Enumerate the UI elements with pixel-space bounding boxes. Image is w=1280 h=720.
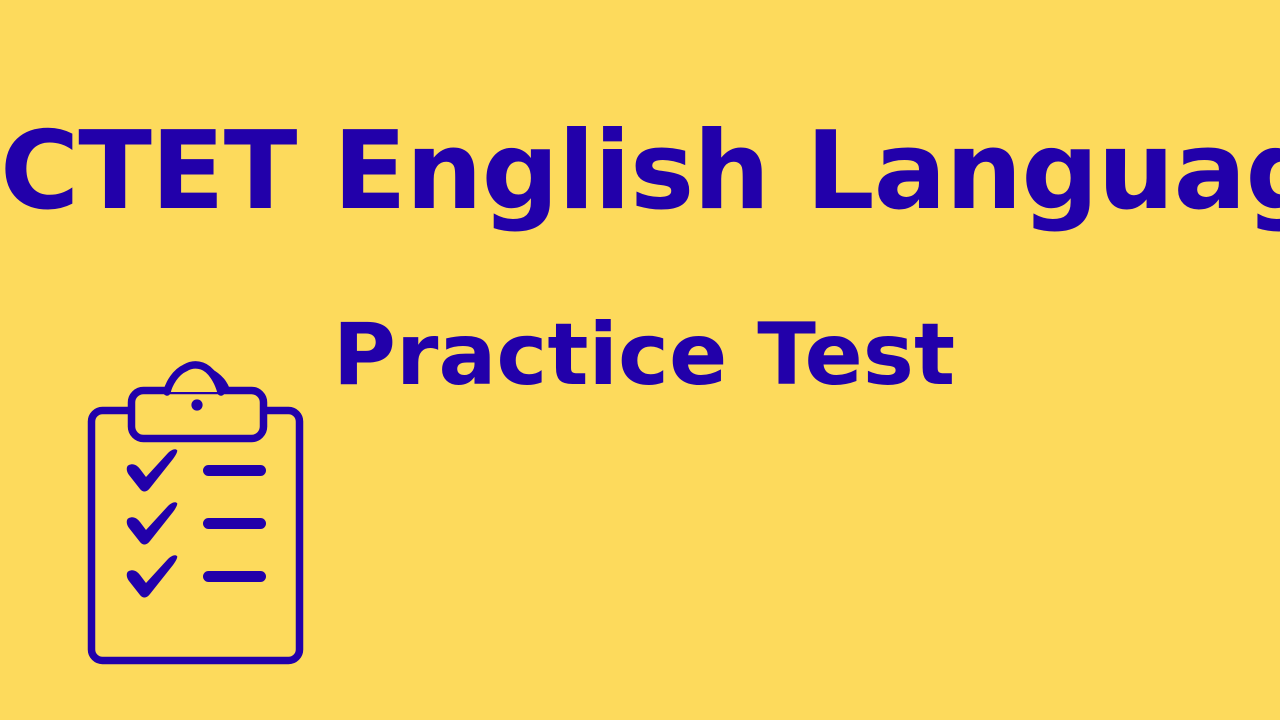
clipboard-clip-dot	[191, 399, 202, 410]
list-line-3	[203, 571, 266, 582]
banner-root: CTET English Language Practice Test	[0, 0, 1280, 720]
clipboard-checklist-icon	[72, 348, 316, 678]
page-title-line-1: CTET English Language	[0, 118, 1280, 226]
check-mark-1	[127, 449, 178, 491]
clipboard-board	[92, 411, 300, 661]
check-mark-3	[127, 555, 178, 597]
list-line-2	[203, 518, 266, 529]
check-mark-2	[127, 502, 178, 544]
clipboard-hump-top	[167, 365, 221, 392]
clipboard-clip	[132, 391, 264, 439]
list-line-1	[203, 465, 266, 476]
